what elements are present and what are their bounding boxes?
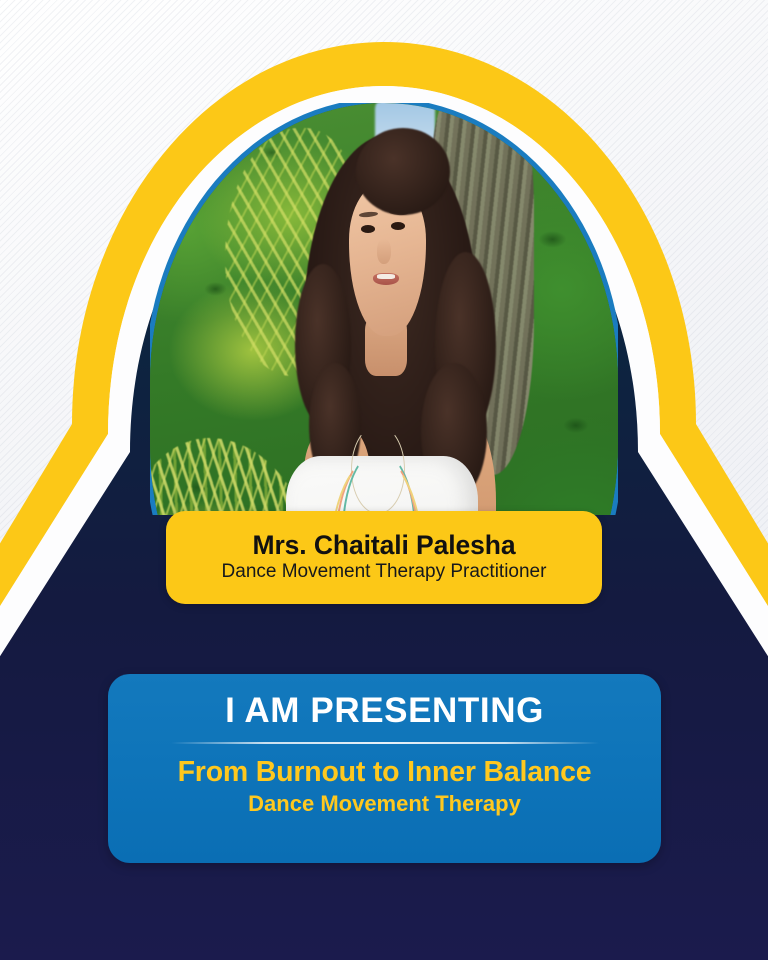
eye-left: [361, 225, 376, 233]
speaker-photo: [150, 103, 618, 515]
card-divider: [171, 742, 599, 744]
speaker-nameplate: Mrs. Chaitali Palesha Dance Movement The…: [166, 511, 602, 604]
nose: [377, 239, 391, 264]
teeth: [377, 274, 396, 279]
talk-title: From Burnout to Inner Balance: [178, 757, 592, 789]
hair-curl-top: [356, 128, 450, 215]
speaker-photo-frame: [150, 103, 618, 515]
talk-subtitle: Dance Movement Therapy: [248, 791, 521, 816]
presenting-card: I AM PRESENTING From Burnout to Inner Ba…: [108, 674, 661, 863]
speaker-figure: [150, 103, 618, 515]
speaker-photo-content: [150, 103, 618, 515]
speaker-announcement-poster: Mrs. Chaitali Palesha Dance Movement The…: [0, 0, 768, 960]
speaker-name: Mrs. Chaitali Palesha: [252, 532, 515, 560]
presenting-eyebrow: I AM PRESENTING: [225, 692, 544, 731]
eye-right: [391, 222, 406, 230]
speaker-role: Dance Movement Therapy Practitioner: [222, 561, 547, 583]
